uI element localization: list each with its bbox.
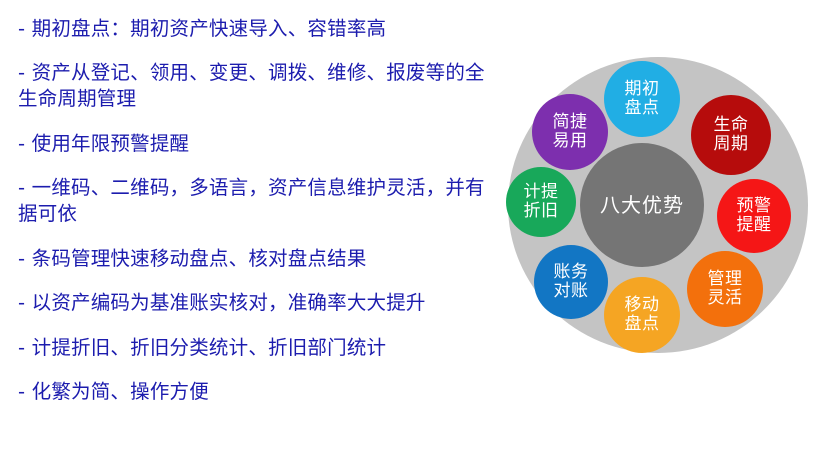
node-label-line2: 灵活 [708, 289, 743, 308]
diagram-node-shengming-zhouqi[interactable]: 生命 周期 [691, 95, 771, 175]
node-label-line1: 生命 [714, 116, 749, 135]
diagram-node-jiti-zhejiu[interactable]: 计提 折旧 [506, 167, 576, 237]
node-label-line1: 计提 [524, 183, 559, 202]
diagram-node-qichu-pandian[interactable]: 期初 盘点 [604, 61, 680, 137]
bullet-barcode-multilang: - 一维码、二维码，多语言，资产信息维护灵活，并有据可依 [18, 175, 492, 226]
node-label-line2: 易用 [553, 132, 588, 151]
diagram-node-jianjie-yiyong[interactable]: 简捷 易用 [532, 94, 608, 170]
diagram-node-yidong-pandian[interactable]: 移动 盘点 [604, 277, 680, 353]
diagram-node-zhangwu-duizhang[interactable]: 账务 对账 [534, 245, 608, 319]
bullet-simplify: - 化繁为简、操作方便 [18, 379, 492, 404]
node-label-line2: 折旧 [524, 202, 559, 221]
node-label-line1: 预警 [737, 197, 772, 216]
node-label-line2: 提醒 [737, 216, 772, 235]
node-label-line2: 周期 [714, 135, 749, 154]
eight-advantages-diagram: 期初 盘点 生命 周期 预警 提醒 管理 灵活 移动 盘点 账务 对账 计提 折… [508, 57, 808, 353]
bullet-life-warning: - 使用年限预警提醒 [18, 131, 492, 156]
bullet-depreciation: - 计提折旧、折旧分类统计、折旧部门统计 [18, 335, 492, 360]
bullet-mobile-count: - 条码管理快速移动盘点、核对盘点结果 [18, 246, 492, 271]
advantages-bullet-list: - 期初盘点：期初资产快速导入、容错率高 - 资产从登记、领用、变更、调拨、维修… [0, 0, 500, 459]
node-label-line1: 账务 [554, 263, 589, 282]
diagram-node-yujing-tixing[interactable]: 预警 提醒 [717, 179, 791, 253]
node-label-line1: 简捷 [553, 113, 588, 132]
bullet-qichu-pandian: - 期初盘点：期初资产快速导入、容错率高 [18, 16, 492, 41]
node-label-line1: 期初 [625, 80, 660, 99]
bullet-asset-code-check: - 以资产编码为基准账实核对，准确率大大提升 [18, 290, 492, 315]
node-label-line1: 移动 [625, 296, 660, 315]
diagram-node-guanli-linghuo[interactable]: 管理 灵活 [687, 251, 763, 327]
node-label-line2: 对账 [554, 282, 589, 301]
node-label-line1: 管理 [708, 270, 743, 289]
diagram-hub-label: 八大优势 [600, 195, 684, 215]
node-label-line2: 盘点 [625, 315, 660, 334]
node-label-line2: 盘点 [625, 99, 660, 118]
diagram-center-hub: 八大优势 [580, 143, 704, 267]
bullet-lifecycle: - 资产从登记、领用、变更、调拨、维修、报废等的全生命周期管理 [18, 60, 492, 111]
